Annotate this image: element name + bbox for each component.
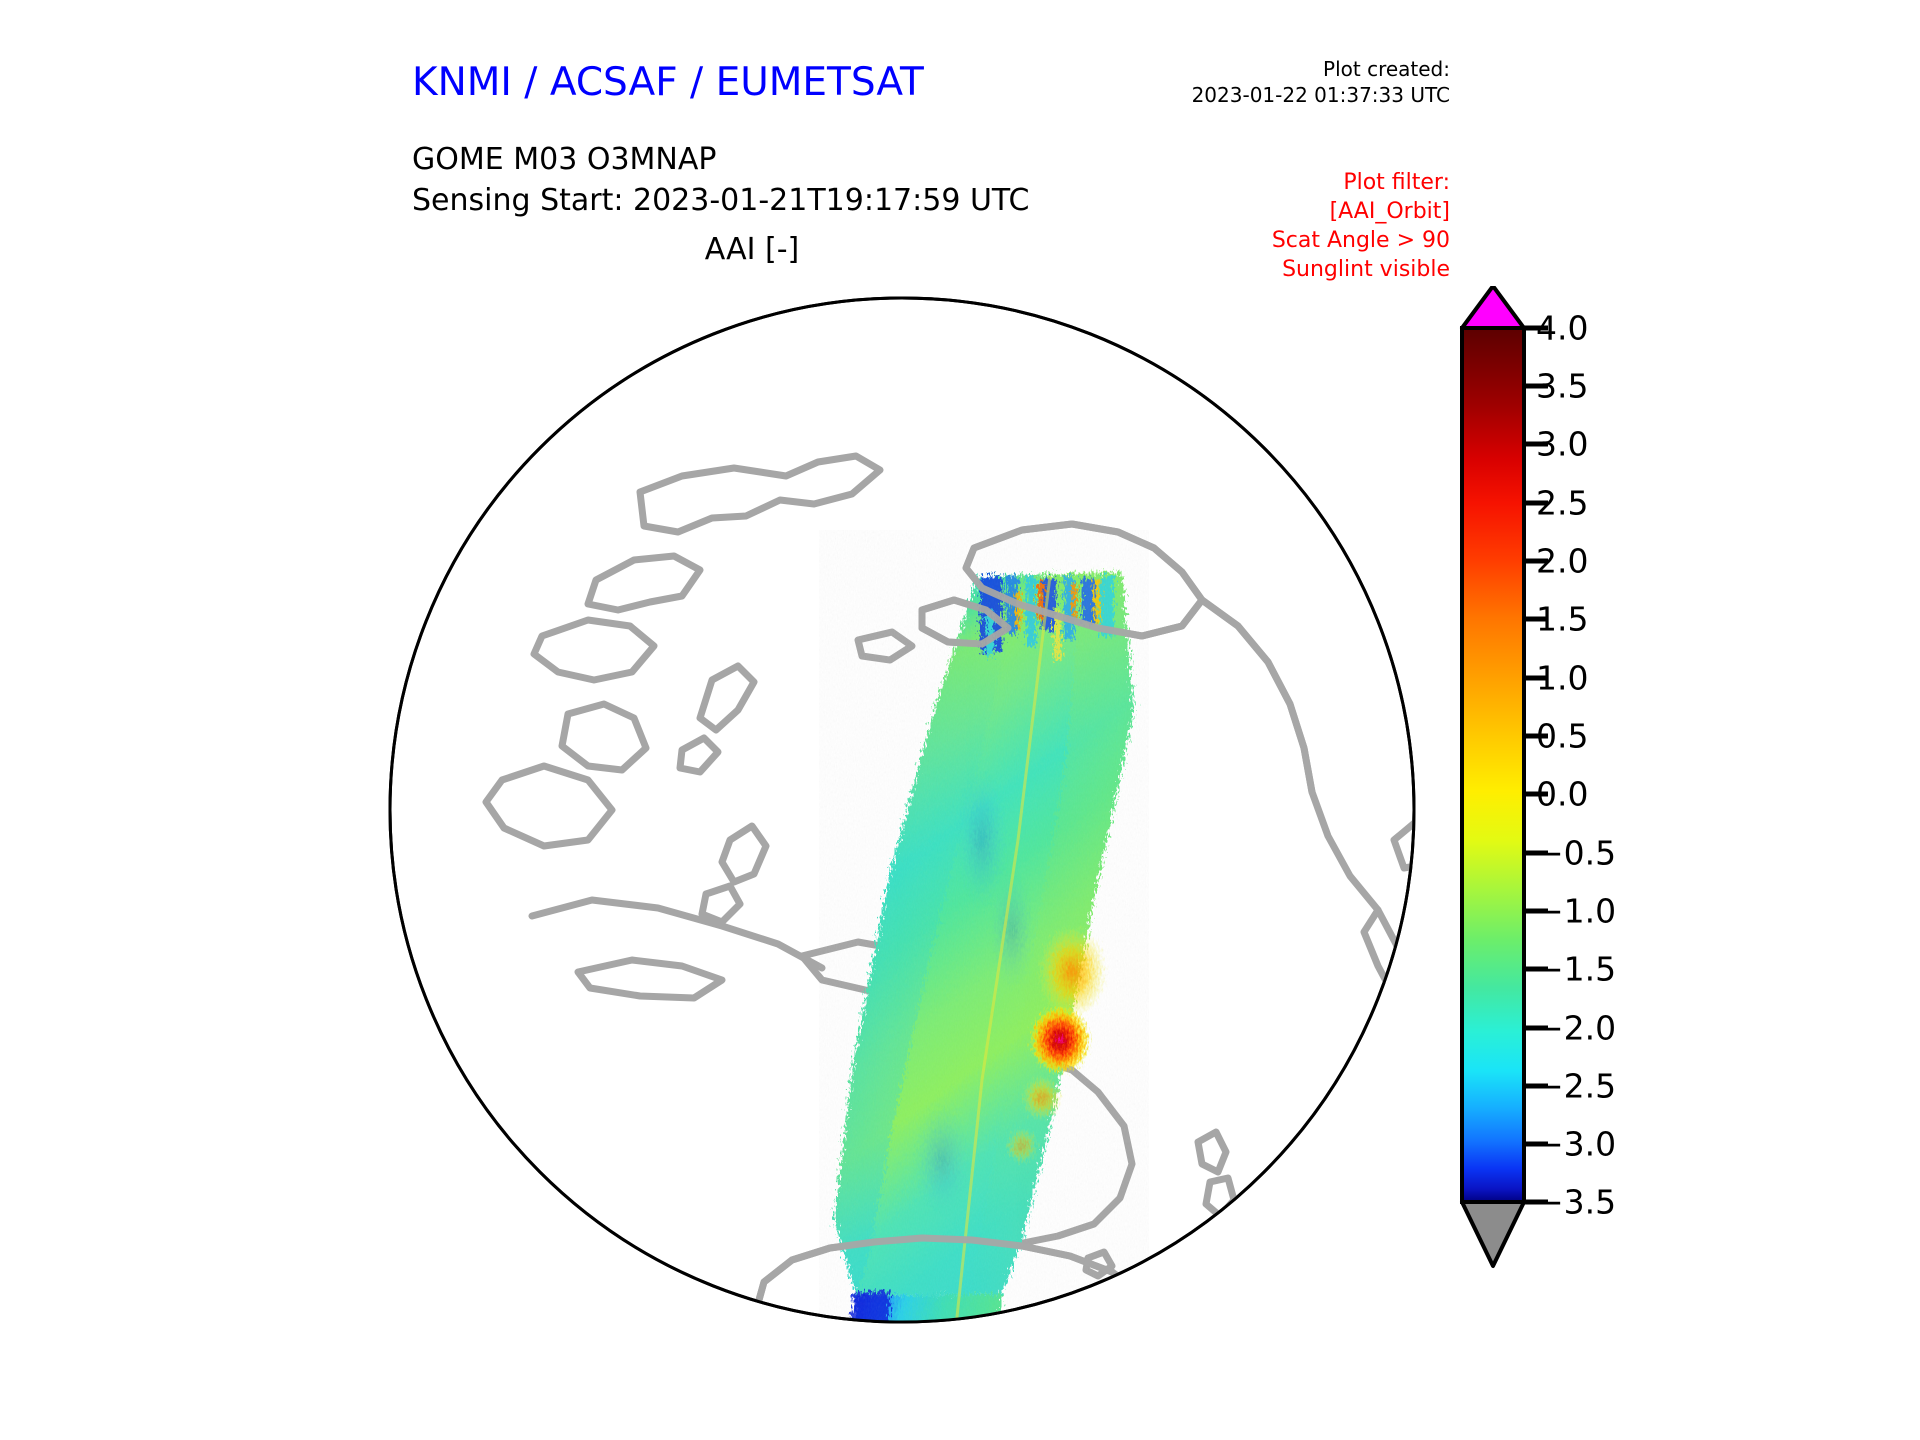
colorbar-label-neg2.0: −2.0: [1536, 1009, 1616, 1048]
dataset-info-block: GOME M03 O3MNAP Sensing Start: 2023-01-2…: [412, 140, 1029, 222]
colorbar-label-3.0: 3.0: [1536, 425, 1588, 464]
colorbar-label-neg3.0: −3.0: [1536, 1125, 1616, 1164]
colorbar-label-1.0: 1.0: [1536, 659, 1588, 698]
organisation-title: KNMI / ACSAF / EUMETSAT: [412, 60, 924, 105]
plot-filter-orbit: [AAI_Orbit]: [1272, 197, 1450, 226]
colorbar-label-0.5: 0.5: [1536, 717, 1588, 756]
plot-created-label: Plot created:: [1192, 56, 1450, 82]
plot-created-block: Plot created: 2023-01-22 01:37:33 UTC: [1192, 56, 1450, 109]
colorbar-over-arrow: [1462, 286, 1524, 328]
map-panel: [382, 280, 1422, 1340]
colorbar-label-2.5: 2.5: [1536, 484, 1588, 523]
colorbar-label-neg0.5: −0.5: [1536, 834, 1616, 873]
colorbar-label-neg1.5: −1.5: [1536, 950, 1616, 989]
colorbar-label-3.5: 3.5: [1536, 367, 1588, 406]
plot-filter-label: Plot filter:: [1272, 168, 1450, 197]
colorbar-label-neg1.0: −1.0: [1536, 892, 1616, 931]
dataset-name: GOME M03 O3MNAP: [412, 140, 1029, 181]
plot-filter-block: Plot filter: [AAI_Orbit] Scat Angle > 90…: [1272, 168, 1450, 284]
plot-filter-scat-angle: Scat Angle > 90: [1272, 226, 1450, 255]
colorbar-gradient: [1462, 328, 1524, 1202]
colorbar-label-1.5: 1.5: [1536, 600, 1588, 639]
colorbar: 4.0 3.5 3.0 2.5 2.0 1.5 1.0 0.5 0.0 −0.5…: [1448, 286, 1748, 1296]
colorbar-label-neg2.5: −2.5: [1536, 1067, 1616, 1106]
colorbar-label-0.0: 0.0: [1536, 775, 1588, 814]
globe-map[interactable]: [382, 280, 1422, 1340]
colorbar-label-4.0: 4.0: [1536, 309, 1588, 348]
colorbar-label-neg3.5: −3.5: [1536, 1183, 1616, 1222]
variable-title: AAI [-]: [412, 232, 1092, 267]
colorbar-label-2.0: 2.0: [1536, 542, 1588, 581]
colorbar-under-arrow: [1462, 1202, 1524, 1266]
plot-created-value: 2023-01-22 01:37:33 UTC: [1192, 82, 1450, 108]
sensing-start: Sensing Start: 2023-01-21T19:17:59 UTC: [412, 181, 1029, 222]
